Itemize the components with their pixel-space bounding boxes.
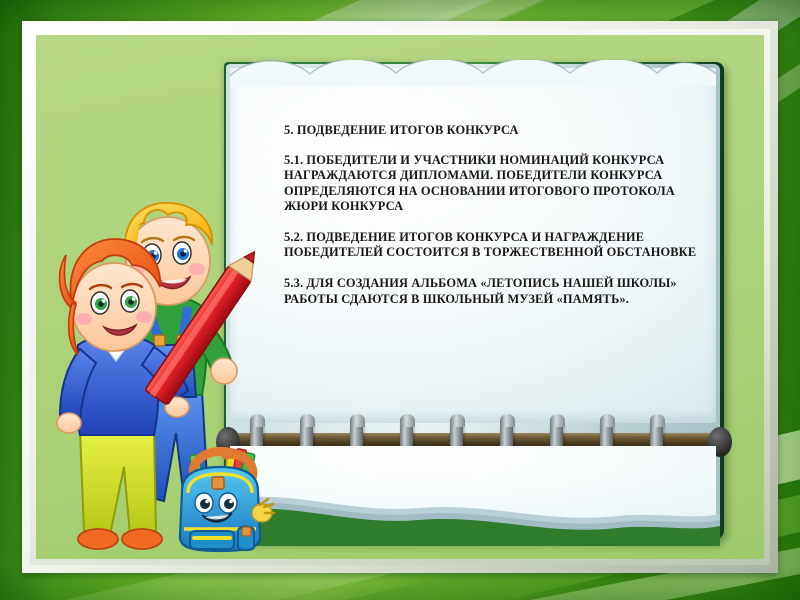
page-scalloped-top-edge [230,60,716,86]
paragraph-heading: 5. ПОДВЕДЕНИЕ ИТОГОВ КОНКУРСА [284,123,704,138]
red-pencil [144,241,264,421]
slide-root: 5. ПОДВЕДЕНИЕ ИТОГОВ КОНКУРСА 5.1. ПОБЕД… [0,0,800,600]
notebook-text-body: 5. ПОДВЕДЕНИЕ ИТОГОВ КОНКУРСА 5.1. ПОБЕД… [284,123,704,322]
paragraph-5-3: 5.3. ДЛЯ СОЗДАНИЯ АЛЬБОМА «ЛЕТОПИСЬ НАШЕ… [284,276,704,306]
paragraph-5-1: 5.1. ПОБЕДИТЕЛИ И УЧАСТНИКИ НОМИНАЦИЙ КО… [284,153,704,214]
content-stage: 5. ПОДВЕДЕНИЕ ИТОГОВ КОНКУРСА 5.1. ПОБЕД… [36,35,764,559]
backpack-character [164,443,276,555]
page-wavy-bottom-edge [228,496,720,546]
paragraph-5-2: 5.2. ПОДВЕДЕНИЕ ИТОГОВ КОНКУРСА И НАГРАЖ… [284,230,704,260]
